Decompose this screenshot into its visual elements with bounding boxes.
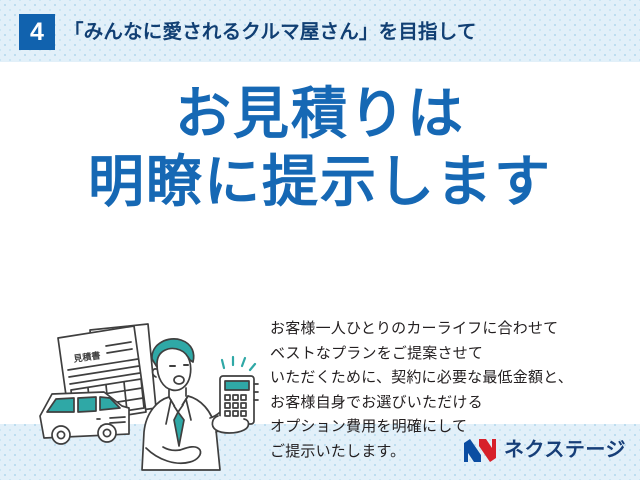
sparkle-icon [222,357,255,370]
headline-line-2: 明瞭に提示します [0,152,640,212]
body-line-2: ベストなプランをご提案させて [270,342,630,367]
body-line-4: お客様自身でお選びいただける [270,391,630,416]
body-line-1: お客様一人ひとりのカーライフに合わせて [270,317,630,342]
headline-line-1: お見積りは [0,84,640,144]
slide-header: 4 「みんなに愛されるクルマ屋さん」を目指して [0,0,640,62]
promo-slide: 4 「みんなに愛されるクルマ屋さん」を目指して お見積りは 明瞭に提示します お… [0,0,640,480]
section-number-badge: 4 [19,14,55,50]
body-line-3: いただくために、契約に必要な最低金額と、 [270,366,630,391]
nextage-logo: ネクステージ [463,435,626,465]
header-title: 「みんなに愛されるクルマ屋さん」を目指して [64,13,477,51]
brand-name: ネクステージ [504,438,626,463]
content-card: お見積りは 明瞭に提示します お客様一人ひとりのカーライフに合わせて ベストなプ… [0,62,640,424]
nextage-n-mark-icon [463,438,497,463]
slide-footer: ネクステージ [0,424,640,480]
headline-block: お見積りは 明瞭に提示します [0,84,640,213]
